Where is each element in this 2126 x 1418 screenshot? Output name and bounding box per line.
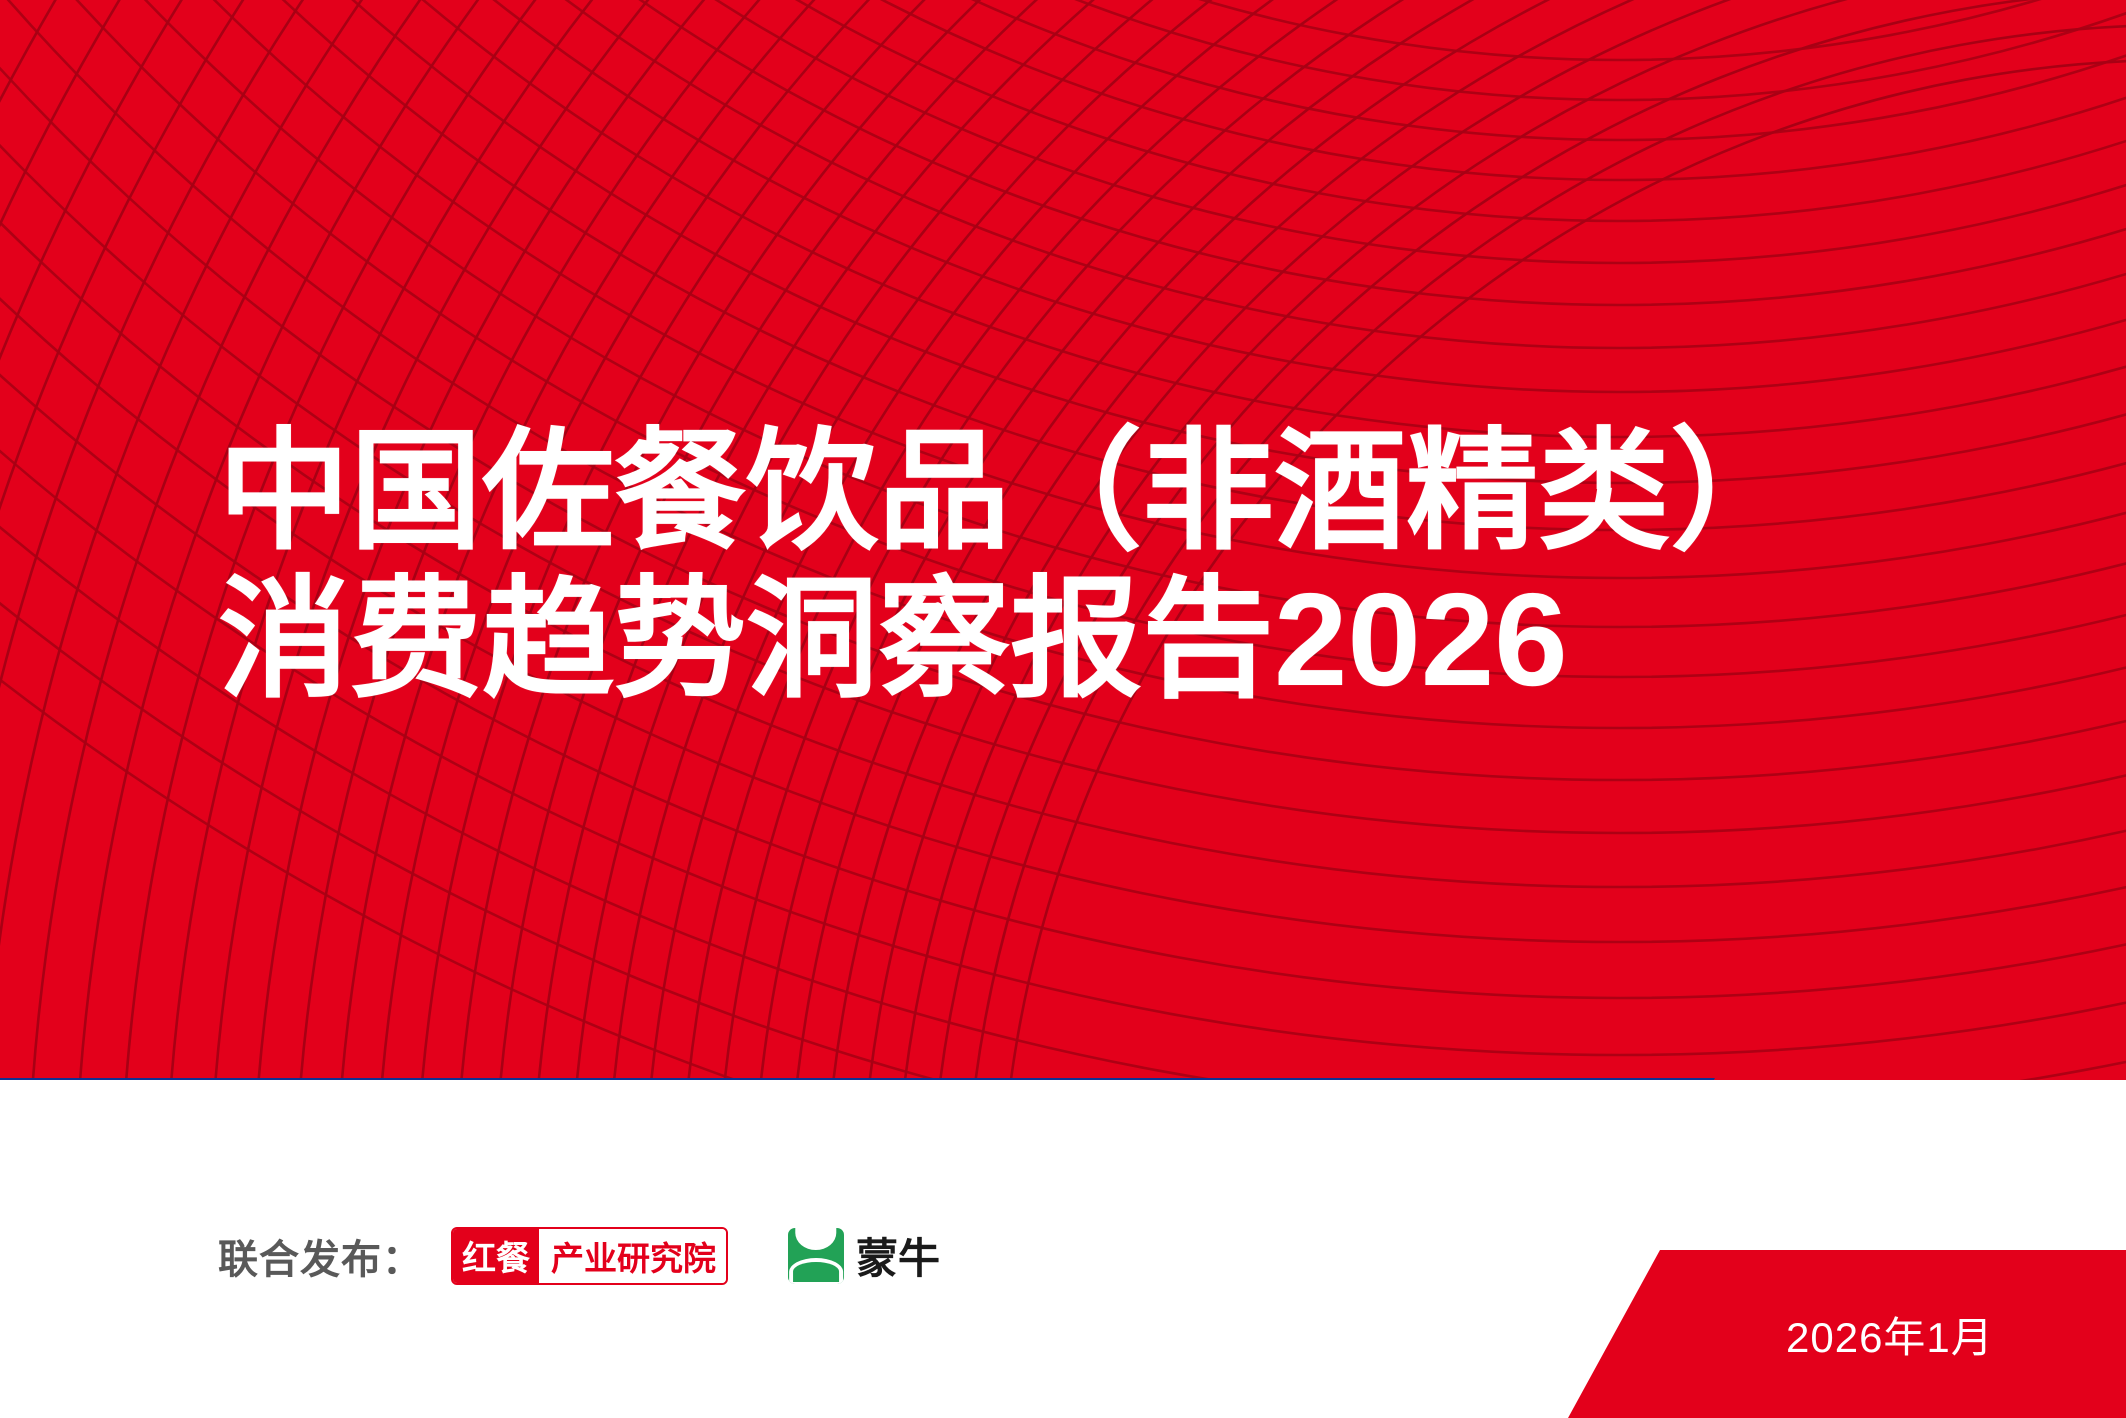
report-cover-slide: 中国佐餐饮品（非酒精类） 消费趋势洞察报告2026 联合发布： 红餐 产业研究院… — [0, 0, 2126, 1418]
mengniu-arc-shape — [793, 1262, 839, 1281]
hongcan-logo-mark: 红餐 — [453, 1229, 539, 1283]
cover-title: 中国佐餐饮品（非酒精类） 消费趋势洞察报告2026 — [218, 418, 1978, 714]
hongcan-research-institute-logo[interactable]: 红餐 产业研究院 — [451, 1227, 728, 1285]
mengniu-logo-name: 蒙牛 — [856, 1225, 940, 1286]
hongcan-logo-name: 产业研究院 — [539, 1229, 726, 1283]
publish-label: 联合发布： — [218, 1227, 423, 1285]
publication-date: 2026年1月 — [1786, 1304, 1994, 1365]
mengniu-logo[interactable]: 蒙牛 — [788, 1225, 940, 1286]
hero-red-panel: 中国佐餐饮品（非酒精类） 消费趋势洞察报告2026 — [0, 0, 2126, 1080]
mengniu-mark-icon — [788, 1228, 844, 1284]
cover-title-line-2: 消费趋势洞察报告2026 — [218, 566, 1978, 714]
publishers-row: 联合发布： 红餐 产业研究院 蒙牛 — [218, 1225, 940, 1286]
cover-title-line-1: 中国佐餐饮品（非酒精类） — [218, 418, 1978, 566]
date-banner: 2026年1月 — [1568, 1250, 2126, 1418]
